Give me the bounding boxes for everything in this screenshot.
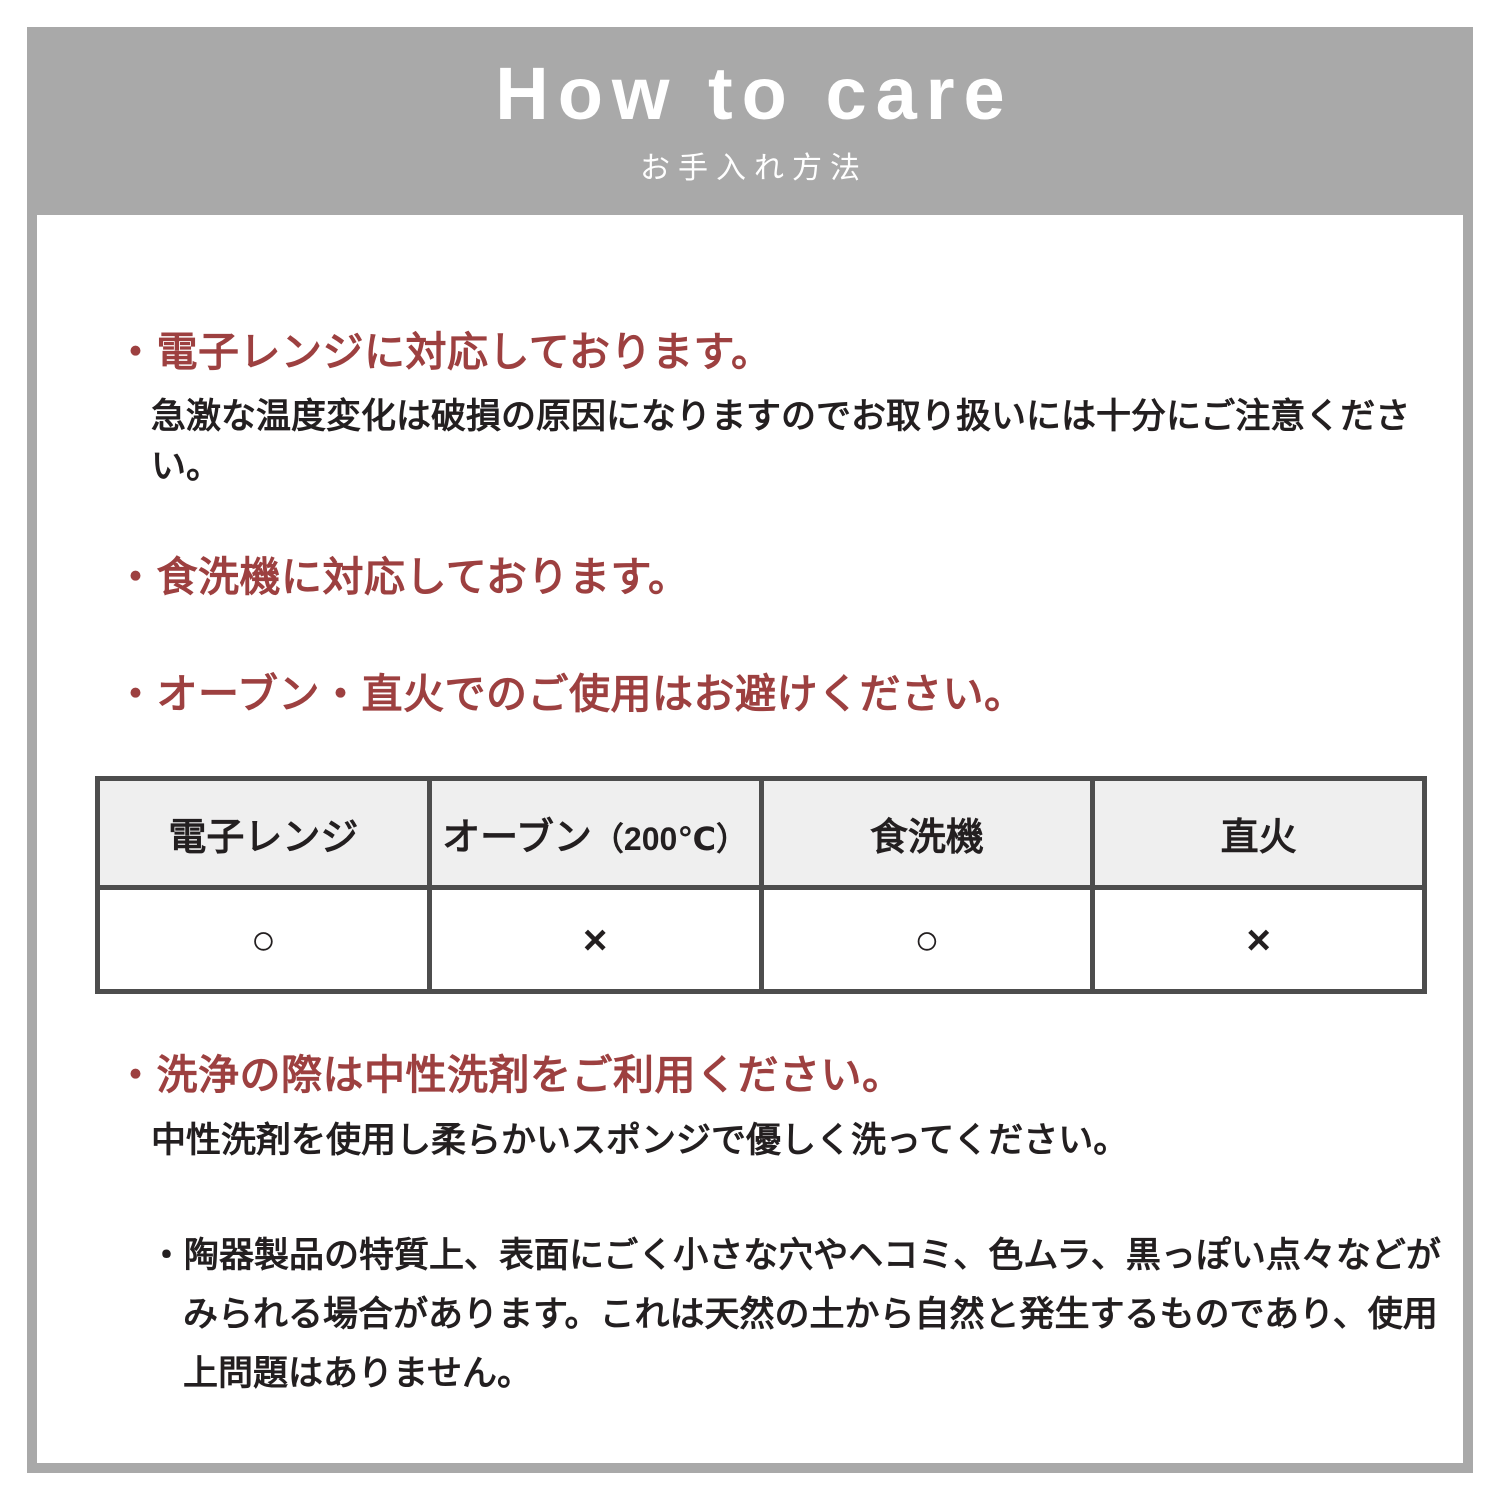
page-title: How to care xyxy=(486,55,1013,133)
care-section-dishwasher: ・食洗機に対応しております。 xyxy=(37,550,1463,605)
care-detail-detergent: 中性洗剤を使用し柔らかいスポンジで優しく洗ってください。 xyxy=(115,1116,1451,1166)
care-section-detergent: ・洗浄の際は中性洗剤をご利用ください。 中性洗剤を使用し柔らかいスポンジで優しく… xyxy=(37,1048,1463,1165)
compatibility-table: 電子レンジ オーブン（200℃） 食洗機 直火 ○ × ○ × xyxy=(95,776,1427,994)
table-header-dishwasher-label: 食洗機 xyxy=(870,817,984,859)
table-cell-direct-flame: × xyxy=(1093,888,1425,992)
care-lead-microwave: ・電子レンジに対応しております。 xyxy=(115,325,1463,380)
care-footnote-ceramic: ・陶器製品の特質上、表面にごく小さな穴やヘコミ、色ムラ、黒っぽい点々などがみられ… xyxy=(149,1227,1463,1403)
table-header-dishwasher: 食洗機 xyxy=(761,779,1093,888)
table-header-oven: オーブン（200℃） xyxy=(429,779,761,888)
header-band: How to care お手入れ方法 xyxy=(27,27,1473,215)
table-cell-dishwasher: ○ xyxy=(761,888,1093,992)
care-section-oven-flame: ・オーブン・直火でのご使用はお避けください。 xyxy=(37,667,1463,722)
table-header-microwave-label: 電子レンジ xyxy=(168,817,358,859)
care-lead-dishwasher: ・食洗機に対応しております。 xyxy=(115,550,1463,605)
care-lead-oven-flame: ・オーブン・直火でのご使用はお避けください。 xyxy=(115,667,1463,722)
table-header-microwave: 電子レンジ xyxy=(98,779,430,888)
page-subtitle: お手入れ方法 xyxy=(632,143,868,187)
table-header-oven-temperature: （200℃） xyxy=(592,821,748,857)
care-lead-detergent: ・洗浄の際は中性洗剤をご利用ください。 xyxy=(115,1048,1463,1103)
table-cell-oven: × xyxy=(429,888,761,992)
care-content: ・電子レンジに対応しております。 急激な温度変化は破損の原因になりますのでお取り… xyxy=(37,215,1463,1404)
table-header-row: 電子レンジ オーブン（200℃） 食洗機 直火 xyxy=(98,779,1425,888)
table-row: ○ × ○ × xyxy=(98,888,1425,992)
table-header-direct-flame: 直火 xyxy=(1093,779,1425,888)
table-cell-microwave: ○ xyxy=(98,888,430,992)
table-header-direct-flame-label: 直火 xyxy=(1221,817,1297,859)
care-card: How to care お手入れ方法 ・電子レンジに対応しております。 急激な温… xyxy=(27,27,1473,1473)
care-detail-microwave: 急激な温度変化は破損の原因になりますのでお取り扱いには十分にご注意ください。 xyxy=(115,392,1451,491)
care-section-microwave: ・電子レンジに対応しております。 急激な温度変化は破損の原因になりますのでお取り… xyxy=(37,325,1463,492)
table-header-oven-label: オーブン xyxy=(442,817,592,859)
